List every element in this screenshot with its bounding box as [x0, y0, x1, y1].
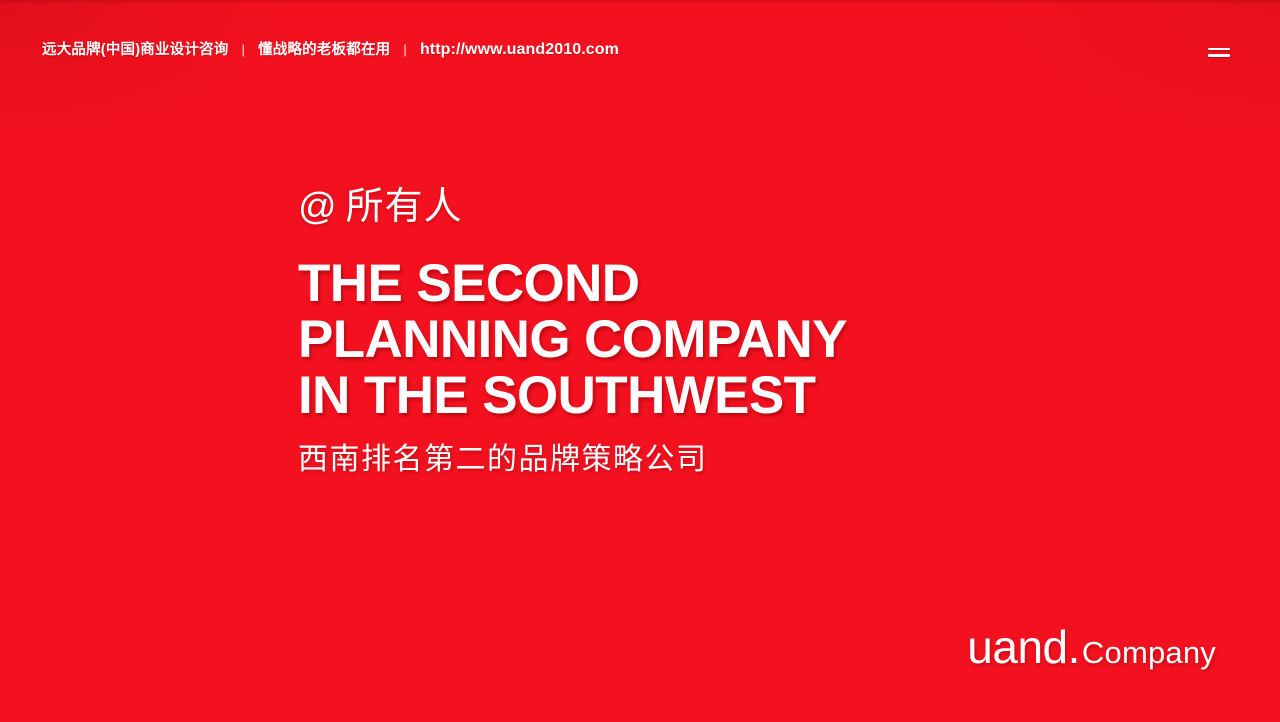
at-mention-line: @所有人	[298, 186, 1118, 230]
header-separator-1: |	[228, 42, 258, 57]
hamburger-menu-icon[interactable]	[1208, 44, 1230, 60]
headline-line-1: THE SECOND	[298, 256, 1118, 312]
menu-icon-bar-bottom	[1208, 54, 1230, 57]
slide-content-block: @所有人 THE SECOND PLANNING COMPANY IN THE …	[298, 186, 1118, 478]
at-audience-label: 所有人	[346, 186, 463, 228]
header-info-bar: 远大品牌(中国)商业设计咨询 | 懂战略的老板都在用 | http://www.…	[42, 38, 619, 59]
menu-icon-bar-top	[1208, 48, 1230, 51]
subtitle-chinese: 西南排名第二的品牌策略公司	[298, 442, 1118, 478]
header-website-url[interactable]: http://www.uand2010.com	[420, 41, 619, 59]
brand-logo: uand. Company	[967, 624, 1216, 670]
header-separator-2: |	[390, 42, 420, 57]
headline-line-2: PLANNING COMPANY	[298, 312, 1118, 368]
slide-header: 远大品牌(中国)商业设计咨询 | 懂战略的老板都在用 | http://www.…	[0, 0, 1280, 100]
logo-mark-text: uand.	[967, 624, 1080, 670]
header-brand-text: 远大品牌(中国)商业设计咨询	[42, 38, 228, 59]
page-title: THE SECOND PLANNING COMPANY IN THE SOUTH…	[298, 256, 1118, 425]
slide-canvas: 远大品牌(中国)商业设计咨询 | 懂战略的老板都在用 | http://www.…	[0, 0, 1280, 722]
logo-word-text: Company	[1082, 637, 1216, 668]
at-symbol-icon: @	[298, 186, 338, 228]
headline-line-3: IN THE SOUTHWEST	[298, 368, 1118, 424]
header-tagline-text: 懂战略的老板都在用	[258, 38, 390, 59]
